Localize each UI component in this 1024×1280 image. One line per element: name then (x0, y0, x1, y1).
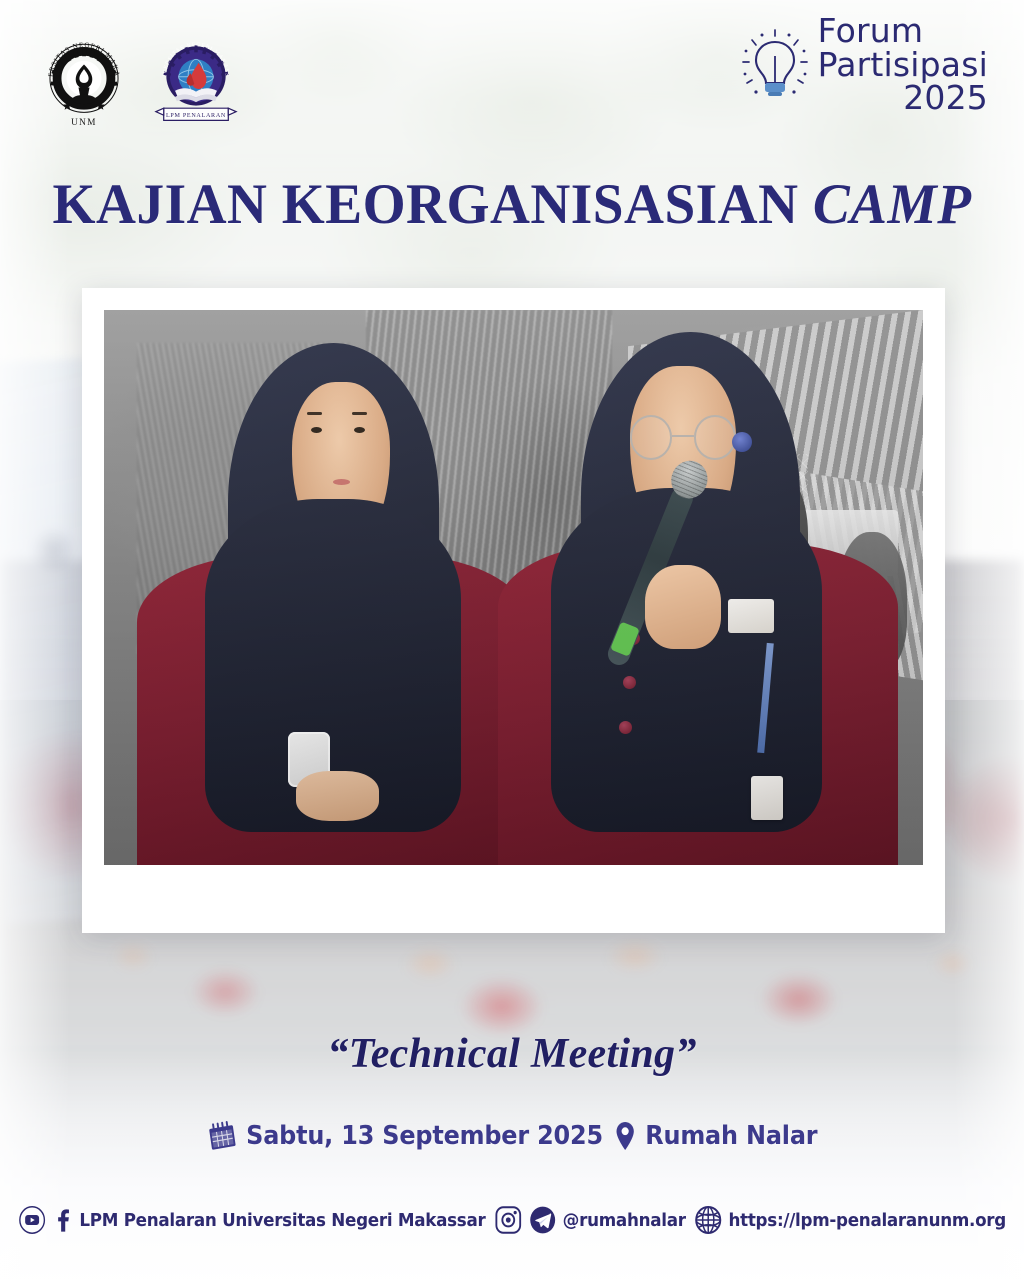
subject-right-id-card (751, 776, 783, 820)
jacket-button-2 (623, 676, 636, 689)
event-location: Rumah Nalar (645, 1121, 817, 1151)
jacket-button-3 (619, 721, 632, 734)
title-main-text: KAJIAN KEORGANISASIAN (53, 173, 799, 236)
forum-brand-line-1: Forum (818, 14, 988, 48)
footer-item-handle[interactable]: @rumahnalar (494, 1205, 686, 1235)
map-pin-icon (613, 1120, 637, 1152)
forum-brand-year: 2025 (818, 81, 988, 115)
footer-item-social-page[interactable]: LPM Penalaran Universitas Negeri Makassa… (18, 1205, 485, 1235)
telegram-icon[interactable] (528, 1205, 556, 1235)
footer-website-text: https://lpm-penalaranunm.org (728, 1210, 1006, 1231)
subject-left-eye-right (354, 427, 365, 433)
calendar-icon (207, 1120, 238, 1152)
event-date-group: Sabtu, 13 September 2025 (207, 1120, 603, 1152)
title-emphasis-text: CAMP (813, 173, 972, 236)
footer-social-page-text: LPM Penalaran Universitas Negeri Makassa… (79, 1210, 485, 1231)
subject-left-brow-left (307, 412, 322, 415)
glasses-lens-left (630, 415, 672, 459)
event-meta: Sabtu, 13 September 2025 Rumah Nalar (41, 1120, 983, 1152)
subject-right-hijab-pin (732, 432, 752, 452)
svg-text:LPM PENALARAN: LPM PENALARAN (166, 113, 226, 119)
event-location-group: Rumah Nalar (613, 1120, 817, 1152)
globe-icon[interactable] (694, 1205, 722, 1235)
glasses-lens-right (694, 415, 736, 459)
unm-logo: UNIVERSITAS NEGERI MAKASSAR UNM (38, 36, 130, 128)
subject-left-brow-right (352, 412, 367, 415)
svg-text:UNM: UNM (71, 117, 97, 127)
forum-brand-line-2: Partisipasi (818, 48, 988, 82)
subject-left-hands (296, 771, 379, 821)
footer-item-website[interactable]: https://lpm-penalaranunm.org (694, 1205, 1006, 1235)
lightbulb-icon (736, 26, 814, 118)
footer-social-bar: LPM Penalaran Universitas Negeri Makassa… (36, 1205, 988, 1235)
youtube-icon[interactable] (18, 1205, 46, 1235)
event-photograph (104, 310, 923, 865)
lpm-penalaran-logo: LPM PENALARAN UNIVERSITAS NEGERI MAKASSA… (148, 36, 244, 128)
photo-subject-right (514, 310, 891, 865)
event-subtitle: “Technical Meeting” (0, 1030, 1024, 1078)
organization-logos: UNIVERSITAS NEGERI MAKASSAR UNM (38, 36, 244, 128)
glasses-bridge (672, 435, 693, 437)
subject-right-hand (645, 565, 720, 648)
subject-right-glasses (630, 415, 735, 459)
event-date: Sabtu, 13 September 2025 (246, 1121, 603, 1151)
background-white-veil-bottom (0, 1050, 1024, 1280)
footer-handle-text: @rumahnalar (563, 1210, 686, 1231)
instagram-icon[interactable] (494, 1205, 522, 1235)
photo-subject-left (145, 310, 522, 865)
forum-partisipasi-brand: Forum Partisipasi 2025 (736, 14, 988, 118)
photo-frame (82, 288, 945, 933)
subject-left-eye-left (311, 427, 322, 433)
page-title: KAJIAN KEORGANISASIAN CAMP (15, 172, 1008, 237)
facebook-icon[interactable] (52, 1205, 72, 1235)
event-poster: UNIVERSITAS NEGERI MAKASSAR UNM (0, 0, 1024, 1280)
jacket-badge-patch (728, 599, 774, 633)
